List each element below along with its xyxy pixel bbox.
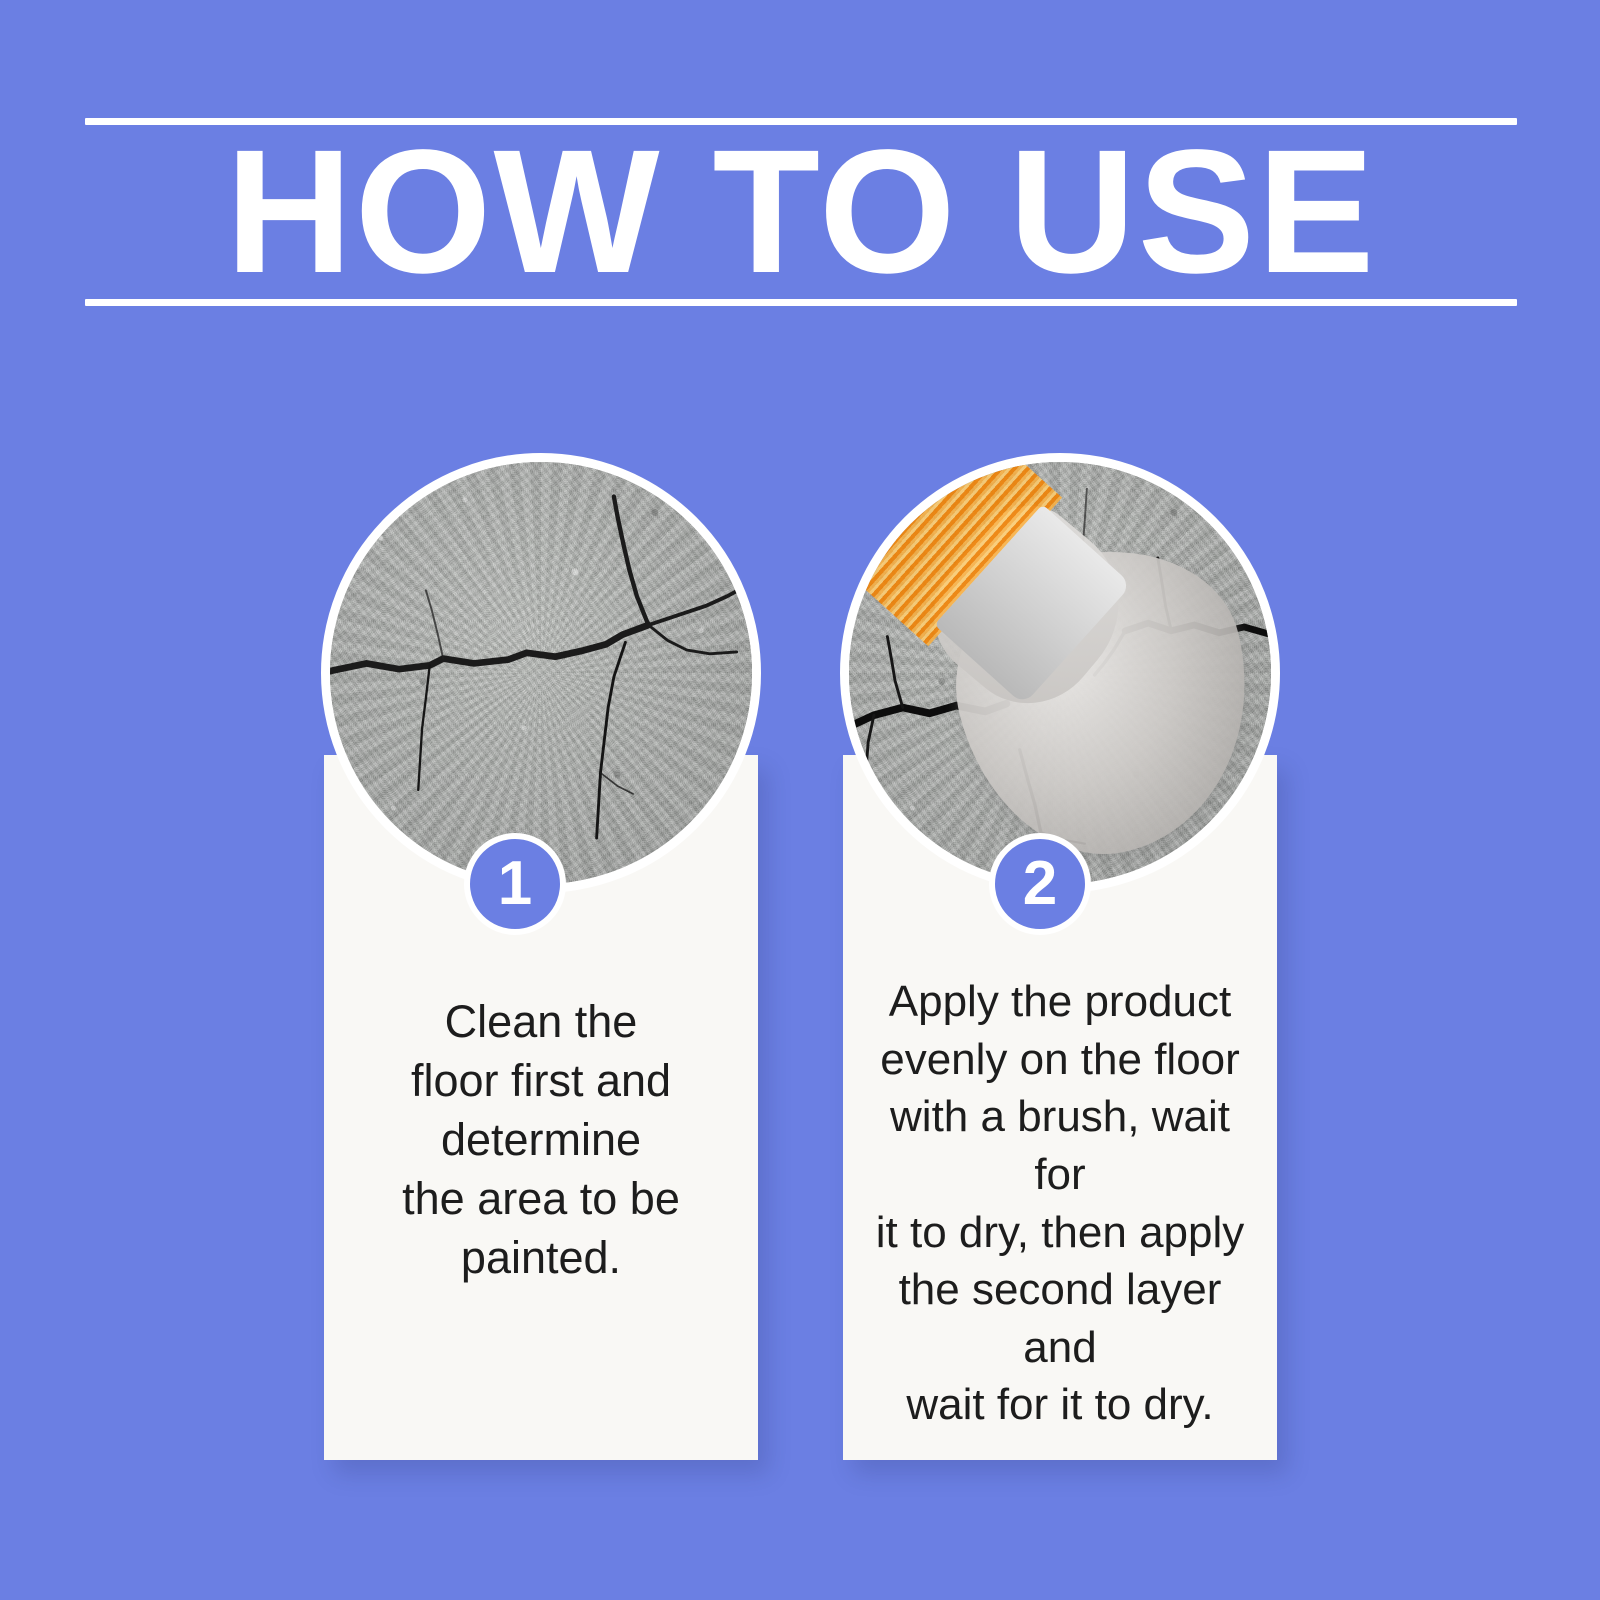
step-2-number-badge: 2 xyxy=(989,833,1091,935)
step-1-number: 1 xyxy=(498,853,532,915)
header: HOW TO USE xyxy=(85,118,1517,306)
header-divider-bottom xyxy=(85,299,1517,306)
step-2-description: Apply the product evenly on the floor wi… xyxy=(859,973,1261,1434)
step-1-description: Clean the floor first and determine the … xyxy=(340,993,742,1288)
step-1-number-badge: 1 xyxy=(464,833,566,935)
steps-container: Clean the floor first and determine the … xyxy=(0,453,1600,1463)
step-1-image-disc xyxy=(321,453,761,893)
page-title: HOW TO USE xyxy=(85,124,1517,300)
step-2-image-disc xyxy=(840,453,1280,893)
crack-overlay xyxy=(330,462,752,884)
step-2-number: 2 xyxy=(1023,853,1057,915)
